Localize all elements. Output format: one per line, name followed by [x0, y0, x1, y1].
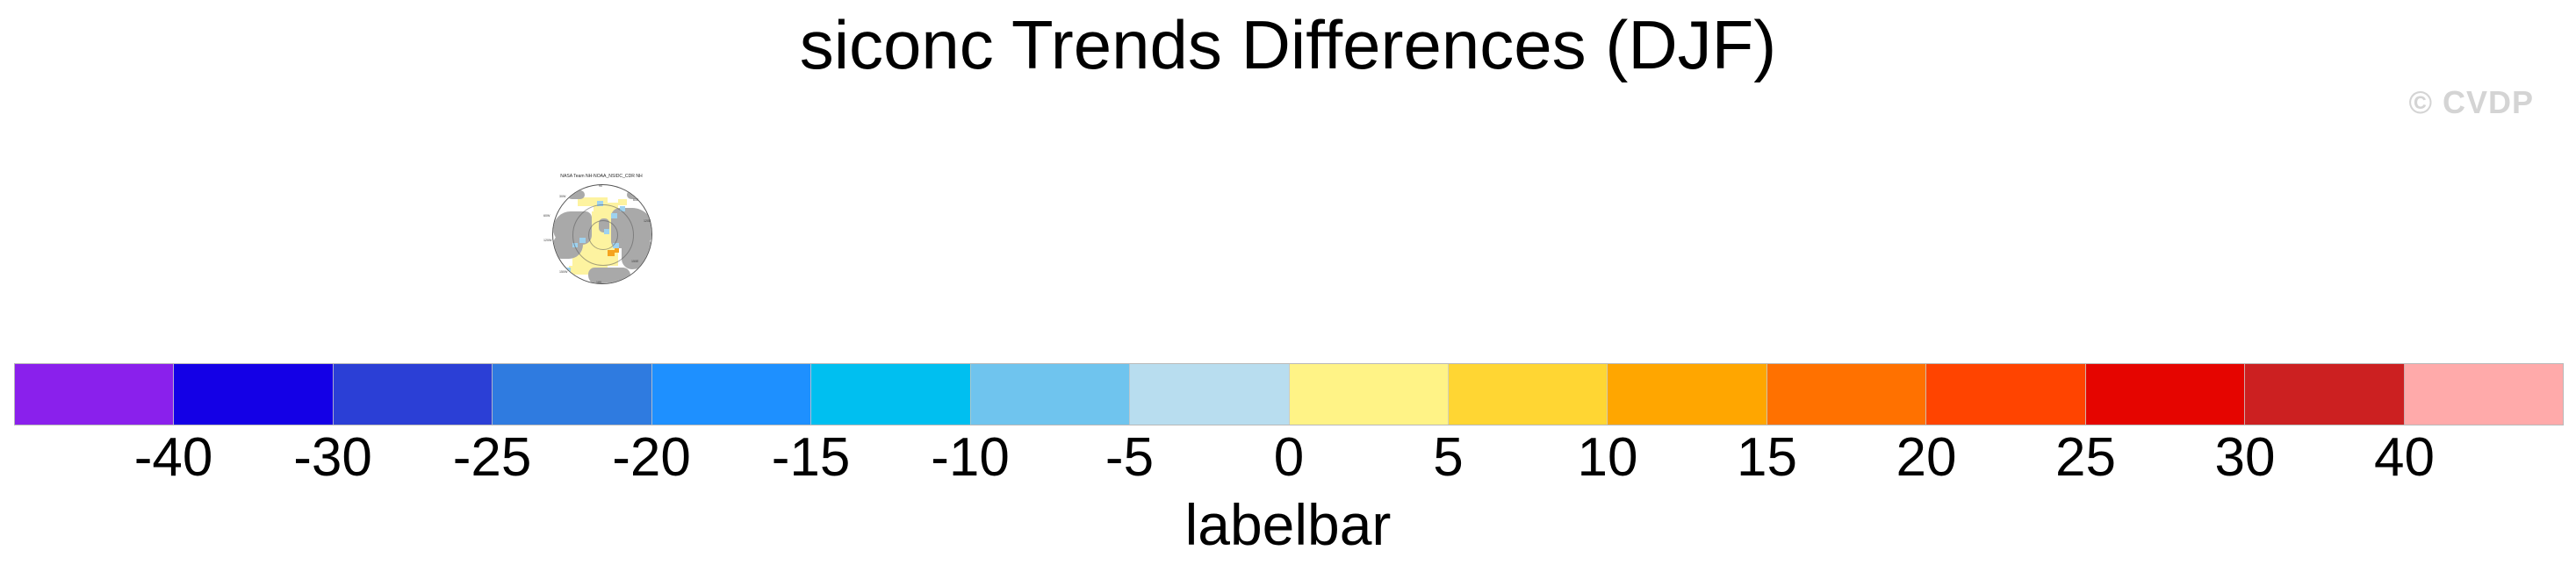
colorbar-cell[interactable]	[2405, 364, 2563, 425]
graticule-label: 60W	[543, 214, 550, 218]
colorbar-cell[interactable]	[652, 364, 811, 425]
page-title: siconc Trends Differences (DJF)	[0, 5, 2576, 85]
colorbar-tick-label: -25	[453, 427, 532, 489]
colorbar-cell[interactable]	[15, 364, 174, 425]
colorbar-cell[interactable]	[174, 364, 333, 425]
colorbar-cell[interactable]	[1608, 364, 1767, 425]
colorbar-tick-label: -10	[931, 427, 1010, 489]
graticule-label: 150W	[559, 270, 567, 274]
colorbar-tick-label: 25	[2055, 427, 2116, 489]
colorbar-tick-label: 10	[1578, 427, 1638, 489]
colorbar-cell[interactable]	[1767, 364, 1926, 425]
cvdp-watermark: © CVDP	[2408, 84, 2534, 121]
colorbar-tick-label: 20	[1896, 427, 1957, 489]
graticule-label: 60E	[633, 198, 638, 202]
graticule-label: 120E	[644, 219, 651, 223]
sea-ice-patch	[569, 266, 583, 273]
landmass	[567, 190, 585, 199]
colorbar-tick-label: 40	[2374, 427, 2435, 489]
colorbar-cell[interactable]	[2245, 364, 2404, 425]
colorbar-tick-label: -40	[134, 427, 213, 489]
graticule-label: 120W	[543, 239, 551, 242]
colorbar-cell[interactable]	[2086, 364, 2245, 425]
graticule-label: 150E	[631, 260, 638, 263]
colorbar[interactable]	[14, 363, 2564, 425]
colorbar-tick-labels: -40-30-25-20-15-10-505101520253040	[14, 427, 2564, 489]
colorbar-cell[interactable]	[811, 364, 970, 425]
colorbar-cell[interactable]	[1449, 364, 1608, 425]
graticule-label: 180	[596, 281, 601, 284]
colorbar-axis-label: labelbar	[0, 491, 2576, 558]
graticule-label: 30W	[559, 195, 565, 198]
colorbar-cell[interactable]	[493, 364, 651, 425]
colorbar-cell[interactable]	[334, 364, 493, 425]
colorbar-cell[interactable]	[1926, 364, 2085, 425]
colorbar-tick-label: 0	[1274, 427, 1304, 489]
colorbar-cell[interactable]	[1130, 364, 1289, 425]
colorbar-tick-label: -15	[772, 427, 851, 489]
map-panel-title: NASA Team NH-NOAA_NSIDC_CDR NH	[539, 174, 663, 179]
colorbar-tick-label: 5	[1433, 427, 1463, 489]
graticule-label: 90	[599, 184, 602, 188]
colorbar-tick-label: -20	[612, 427, 691, 489]
landmass	[588, 268, 630, 284]
colorbar-cell[interactable]	[971, 364, 1130, 425]
colorbar-tick-label: -30	[293, 427, 372, 489]
colorbar-tick-label: 30	[2215, 427, 2276, 489]
sea-ice-patch	[618, 199, 627, 205]
colorbar-tick-label: 15	[1737, 427, 1797, 489]
colorbar-cell[interactable]	[1290, 364, 1449, 425]
graticule-circle	[588, 220, 618, 250]
colorbar-tick-label: -5	[1105, 427, 1154, 489]
map-panel[interactable]: NASA Team NH-NOAA_NSIDC_CDR NH	[538, 174, 665, 297]
